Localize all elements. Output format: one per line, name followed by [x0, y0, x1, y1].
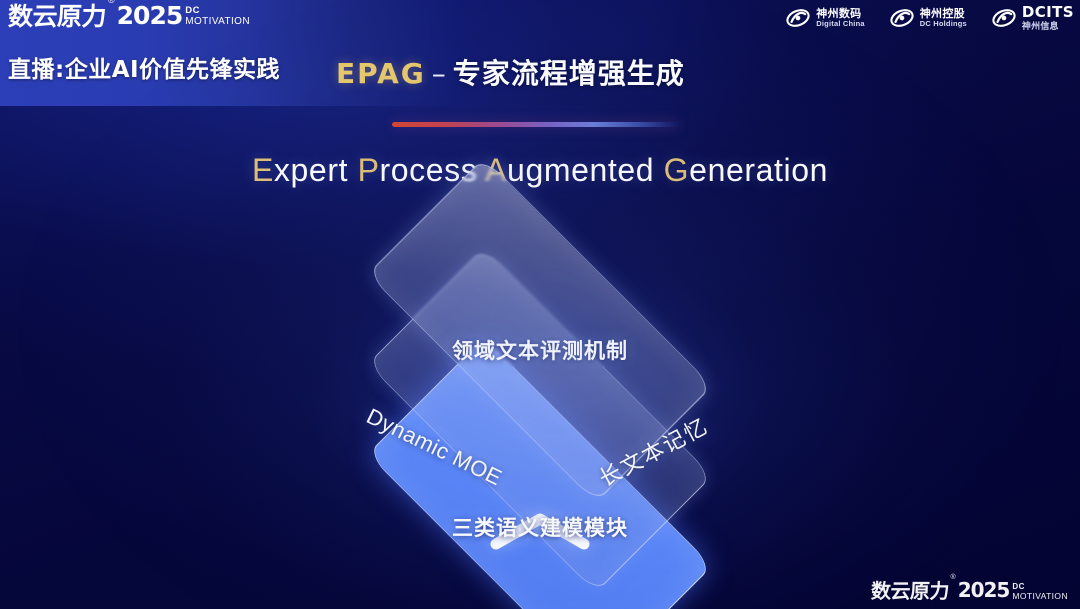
registered-mark-icon: ® [108, 0, 115, 5]
watermark-year: 2025 [958, 580, 1010, 600]
galaxy-spiral-icon [991, 5, 1017, 31]
brand-motivation-label: MOTIVATION [185, 17, 250, 27]
partner-logo-row: 神州数码 Digital China 神州控股 DC Holdings [785, 5, 1074, 31]
watermark-dc-motivation: DC MOTIVATION [1012, 581, 1068, 601]
subtitle-word-generation: Generation [664, 152, 828, 188]
partner-logo-dc-holdings: 神州控股 DC Holdings [889, 5, 967, 31]
partner-name-en: DC Holdings [920, 20, 967, 28]
page-subtitle: Expert Process Augmented Generation [0, 152, 1080, 189]
galaxy-spiral-icon [889, 5, 915, 31]
partner-logo-dcits: DCITS 神州信息 [991, 5, 1074, 31]
partner-logo-text: 神州数码 Digital China [816, 8, 864, 28]
watermark-registered-mark-icon: ® [951, 574, 956, 581]
layer-label-bottom: 三类语义建模模块 [290, 512, 790, 542]
partner-name-cn: 神州信息 [1022, 22, 1074, 31]
partner-name-cn: 神州控股 [920, 8, 967, 20]
page-title: EPAG–专家流程增强生成 [336, 52, 685, 92]
layer-label-top: 领域文本评测机制 [290, 335, 790, 365]
galaxy-spiral-icon [785, 5, 811, 31]
live-broadcast-title: 直播:企业AI价值先锋实践 [8, 50, 280, 84]
partner-name-cn: 神州数码 [816, 8, 864, 20]
title-chinese: 专家流程增强生成 [453, 57, 685, 90]
partner-name-en: DCITS [1022, 5, 1074, 21]
partner-logo-text: 神州控股 DC Holdings [920, 8, 967, 28]
partner-logo-digital-china: 神州数码 Digital China [785, 5, 864, 31]
slide-canvas: 数云原力 ® 2025 DC MOTIVATION 直播:企业AI价值先锋实践 … [0, 0, 1080, 609]
layered-architecture-diagram: 领域文本评测机制 Dynamic MOE 长文本记忆 三类语义建模模块 [290, 225, 790, 570]
watermark-motivation-label: MOTIVATION [1012, 592, 1068, 601]
brand-dc-motivation: DC MOTIVATION [185, 4, 250, 27]
title-acronym: EPAG [336, 57, 426, 90]
brand-name-cn: 数云原力 [8, 4, 107, 29]
subtitle-word-expert: Expert [252, 152, 358, 188]
brand-year: 2025 [117, 3, 183, 28]
brand-dc-label: DC [185, 6, 250, 16]
footer-watermark: 数云原力 ® 2025 DC MOTIVATION [871, 581, 1068, 601]
partner-name-en: Digital China [816, 20, 864, 28]
title-separator: – [426, 57, 453, 90]
brand-lockup: 数云原力 ® 2025 DC MOTIVATION [8, 4, 250, 29]
watermark-brand-cn: 数云原力 [870, 581, 949, 601]
partner-logo-text: DCITS 神州信息 [1022, 5, 1074, 31]
watermark-dc-label: DC [1012, 583, 1068, 591]
gradient-divider [392, 122, 680, 127]
subtitle-word-augmented: Augmented [485, 152, 664, 188]
